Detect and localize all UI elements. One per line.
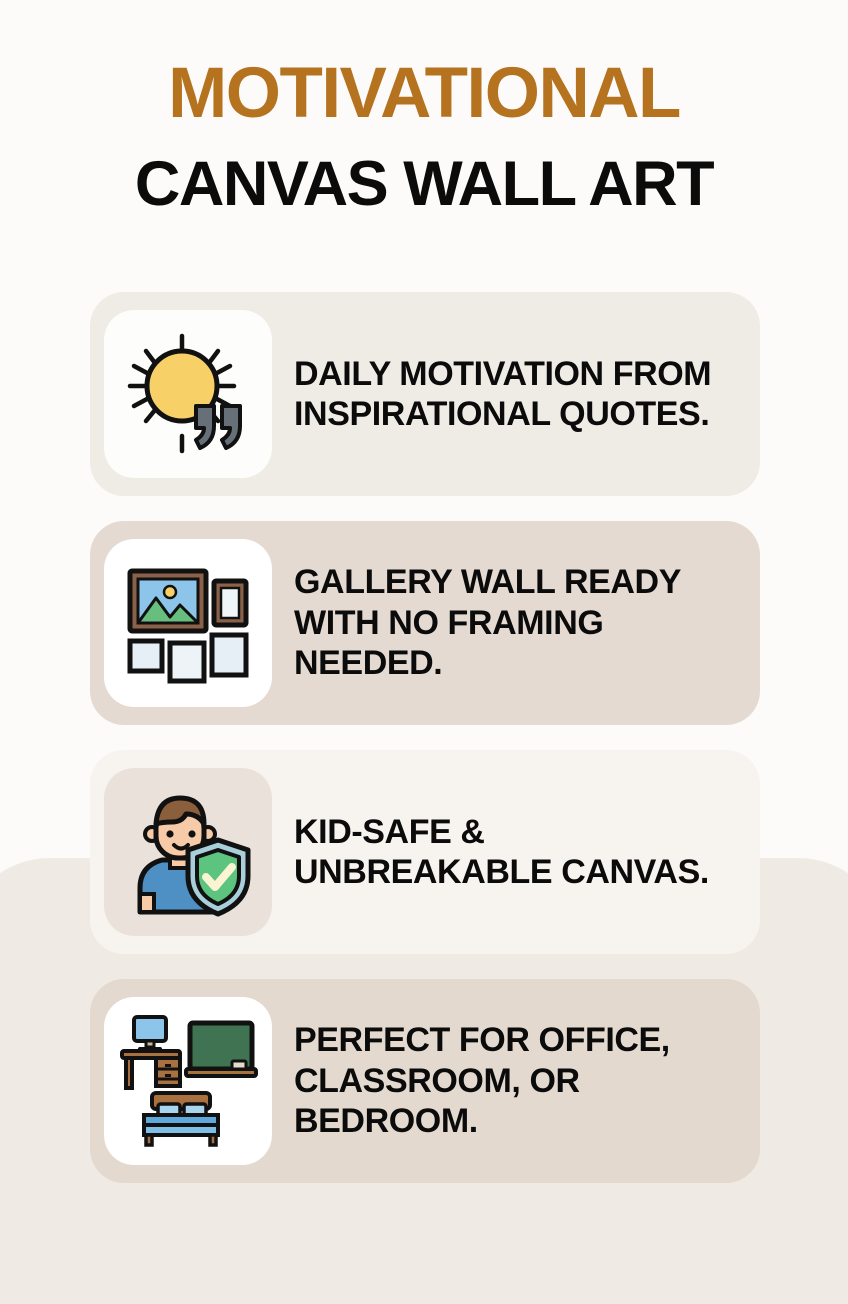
- icon-tile: [104, 539, 272, 707]
- feature-card-room-fit[interactable]: PERFECT FOR OFFICE, CLASSROOM, OR BEDROO…: [90, 979, 760, 1183]
- feature-card-label: DAILY MOTIVATION FROM INSPIRATIONAL QUOT…: [294, 354, 734, 435]
- icon-tile: [104, 310, 272, 478]
- gallery-wall-frames-icon: [118, 553, 258, 693]
- child-shield-check-icon: [118, 782, 258, 922]
- poster-header: MOTIVATIONAL CANVAS WALL ART: [0, 0, 848, 216]
- feature-card-list: DAILY MOTIVATION FROM INSPIRATIONAL QUOT…: [90, 292, 760, 1183]
- feature-card-label: GALLERY WALL READY WITH NO FRAMING NEEDE…: [294, 562, 734, 683]
- page-title-secondary: CANVAS WALL ART: [0, 153, 848, 216]
- poster-page: MOTIVATIONAL CANVAS WALL ART: [0, 0, 848, 1264]
- feature-card-label: PERFECT FOR OFFICE, CLASSROOM, OR BEDROO…: [294, 1020, 734, 1141]
- sun-quote-icon: [118, 324, 258, 464]
- desk-chalkboard-bed-icon: [118, 1011, 258, 1151]
- feature-card-label: KID-SAFE & UNBREAKABLE CANVAS.: [294, 812, 734, 893]
- feature-card-kid-safe[interactable]: KID-SAFE & UNBREAKABLE CANVAS.: [90, 750, 760, 954]
- page-title-primary: MOTIVATIONAL: [0, 58, 848, 129]
- icon-tile: [104, 768, 272, 936]
- feature-card-gallery-wall[interactable]: GALLERY WALL READY WITH NO FRAMING NEEDE…: [90, 521, 760, 725]
- feature-card-daily-motivation[interactable]: DAILY MOTIVATION FROM INSPIRATIONAL QUOT…: [90, 292, 760, 496]
- icon-tile: [104, 997, 272, 1165]
